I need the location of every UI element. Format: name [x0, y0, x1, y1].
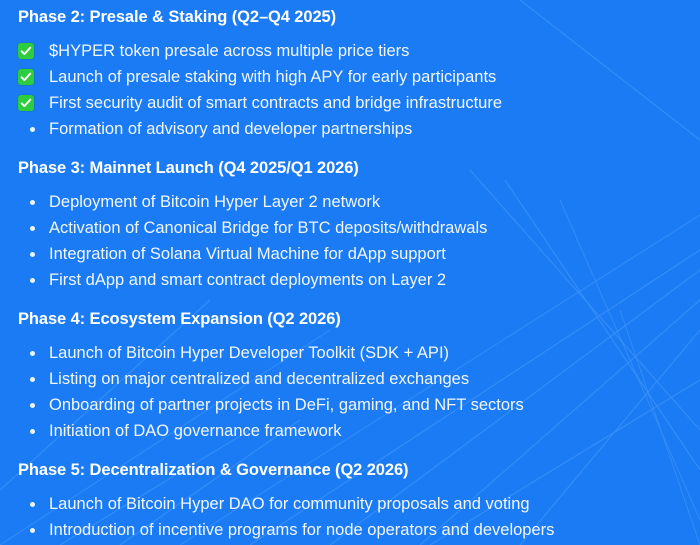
phase-3-item-list: Deployment of Bitcoin Hyper Layer 2 netw… [18, 189, 700, 293]
section-spacer [18, 142, 700, 158]
heading-spacer [18, 27, 700, 38]
list-item-label: Introduction of incentive programs for n… [47, 517, 554, 543]
list-item-label: Launch of Bitcoin Hyper DAO for communit… [47, 491, 530, 517]
bullet-icon [18, 215, 47, 241]
list-item-label: Launch of Bitcoin Hyper Developer Toolki… [47, 340, 449, 366]
bullet-icon [18, 267, 47, 293]
phase-2-item-list: $HYPER token presale across multiple pri… [18, 38, 700, 142]
phase-heading-2: Phase 2: Presale & Staking (Q2–Q4 2025) [18, 0, 700, 27]
list-item: Introduction of incentive programs for n… [18, 517, 700, 543]
list-item: First dApp and smart contract deployment… [18, 267, 700, 293]
bullet-icon [18, 189, 47, 215]
list-item: $HYPER token presale across multiple pri… [18, 38, 700, 64]
heading-spacer [18, 178, 700, 189]
bullet-icon [18, 116, 47, 142]
list-item-label: First dApp and smart contract deployment… [47, 267, 446, 293]
bullet-icon [18, 517, 47, 543]
phase-block-4: Phase 4: Ecosystem Expansion (Q2 2026) L… [18, 309, 700, 444]
list-item-label: First security audit of smart contracts … [47, 90, 502, 116]
list-item-label: $HYPER token presale across multiple pri… [47, 38, 409, 64]
bullet-icon [18, 366, 47, 392]
list-item: Onboarding of partner projects in DeFi, … [18, 392, 700, 418]
phase-block-3: Phase 3: Mainnet Launch (Q4 2025/Q1 2026… [18, 158, 700, 293]
section-spacer [18, 293, 700, 309]
bullet-icon [18, 491, 47, 517]
phase-block-2: Phase 2: Presale & Staking (Q2–Q4 2025) … [18, 0, 700, 142]
list-item: Launch of Bitcoin Hyper DAO for communit… [18, 491, 700, 517]
phase-4-item-list: Launch of Bitcoin Hyper Developer Toolki… [18, 340, 700, 444]
phase-heading-5: Phase 5: Decentralization & Governance (… [18, 460, 700, 480]
bullet-icon [18, 241, 47, 267]
heading-spacer [18, 329, 700, 340]
list-item-label: Onboarding of partner projects in DeFi, … [47, 392, 524, 418]
list-item-label: Launch of presale staking with high APY … [47, 64, 496, 90]
list-item-label: Deployment of Bitcoin Hyper Layer 2 netw… [47, 189, 380, 215]
check-icon [18, 64, 47, 90]
list-item-label: Integration of Solana Virtual Machine fo… [47, 241, 446, 267]
list-item: Launch of Bitcoin Hyper Developer Toolki… [18, 340, 700, 366]
list-item: Initiation of DAO governance framework [18, 418, 700, 444]
check-icon [18, 90, 47, 116]
heading-spacer [18, 480, 700, 491]
list-item: Deployment of Bitcoin Hyper Layer 2 netw… [18, 189, 700, 215]
check-icon [18, 38, 47, 64]
list-item: Integration of Solana Virtual Machine fo… [18, 241, 700, 267]
phase-heading-3: Phase 3: Mainnet Launch (Q4 2025/Q1 2026… [18, 158, 700, 178]
list-item: Formation of advisory and developer part… [18, 116, 700, 142]
bullet-icon [18, 418, 47, 444]
roadmap-panel: Phase 2: Presale & Staking (Q2–Q4 2025) … [0, 0, 700, 545]
phase-5-item-list: Launch of Bitcoin Hyper DAO for communit… [18, 491, 700, 543]
phase-heading-4: Phase 4: Ecosystem Expansion (Q2 2026) [18, 309, 700, 329]
roadmap-content: Phase 2: Presale & Staking (Q2–Q4 2025) … [0, 0, 700, 543]
list-item: First security audit of smart contracts … [18, 90, 700, 116]
list-item: Activation of Canonical Bridge for BTC d… [18, 215, 700, 241]
phase-block-5: Phase 5: Decentralization & Governance (… [18, 460, 700, 543]
list-item-label: Formation of advisory and developer part… [47, 116, 412, 142]
list-item-label: Listing on major centralized and decentr… [47, 366, 469, 392]
section-spacer [18, 444, 700, 460]
bullet-icon [18, 392, 47, 418]
list-item-label: Initiation of DAO governance framework [47, 418, 342, 444]
list-item-label: Activation of Canonical Bridge for BTC d… [47, 215, 487, 241]
list-item: Listing on major centralized and decentr… [18, 366, 700, 392]
list-item: Launch of presale staking with high APY … [18, 64, 700, 90]
bullet-icon [18, 340, 47, 366]
